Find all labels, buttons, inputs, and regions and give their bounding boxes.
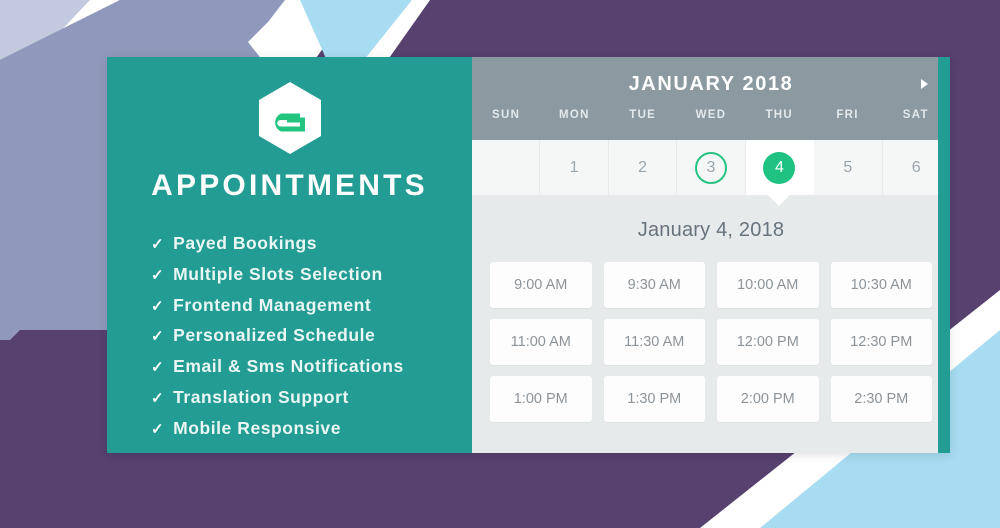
day-cell-2[interactable]: 2 xyxy=(609,140,677,195)
promo-panel: APPOINTMENTS ✓ Payed Bookings ✓ Multiple… xyxy=(107,57,472,453)
check-icon: ✓ xyxy=(151,292,164,322)
chevron-right-icon[interactable] xyxy=(921,79,928,89)
day-label: 6 xyxy=(900,152,932,184)
time-slots-area: January 4, 2018 9:00 AM 9:30 AM 10:00 AM… xyxy=(472,195,950,453)
check-icon: ✓ xyxy=(151,353,164,383)
day-cell-5[interactable]: 5 xyxy=(814,140,882,195)
time-slot-grid: 9:00 AM 9:30 AM 10:00 AM 10:30 AM 11:00 … xyxy=(490,262,932,422)
card-accent-strip xyxy=(938,57,950,453)
check-icon: ✓ xyxy=(151,261,164,291)
day-label xyxy=(490,152,522,184)
weekday-mon: MON xyxy=(540,109,608,121)
feature-label: Multiple Slots Selection xyxy=(173,260,383,290)
feature-label: Payed Bookings xyxy=(173,229,317,259)
weekday-tue: TUE xyxy=(609,109,677,121)
page-title: APPOINTMENTS xyxy=(151,169,428,203)
list-item: ✓ Payed Bookings xyxy=(151,229,472,260)
day-cell-empty xyxy=(472,140,540,195)
list-item: ✓ Frontend Management xyxy=(151,291,472,322)
list-item: ✓ Personalized Schedule xyxy=(151,321,472,352)
list-item: ✓ Multiple Slots Selection xyxy=(151,260,472,291)
weekday-row: SUN MON TUE WED THU FRI SAT xyxy=(472,96,950,121)
feature-label: Personalized Schedule xyxy=(173,321,375,351)
check-icon: ✓ xyxy=(151,384,164,414)
feature-label: Translation Support xyxy=(173,383,349,413)
time-slot[interactable]: 9:00 AM xyxy=(490,262,592,308)
time-slot[interactable]: 11:30 AM xyxy=(604,319,706,365)
selected-date-label: January 4, 2018 xyxy=(490,219,932,242)
feature-label: Mobile Responsive xyxy=(173,414,341,444)
day-label: 3 xyxy=(695,152,727,184)
calendar-header: JANUARY 2018 SUN MON TUE WED THU FRI SAT xyxy=(472,57,950,140)
weekday-sun: SUN xyxy=(472,109,540,121)
time-slot[interactable]: 1:00 PM xyxy=(490,376,592,422)
day-label: 5 xyxy=(832,152,864,184)
time-slot[interactable]: 11:00 AM xyxy=(490,319,592,365)
appointments-card: APPOINTMENTS ✓ Payed Bookings ✓ Multiple… xyxy=(107,57,950,453)
time-slot[interactable]: 2:30 PM xyxy=(831,376,933,422)
weekday-wed: WED xyxy=(677,109,745,121)
day-cell-1[interactable]: 1 xyxy=(540,140,608,195)
time-slot[interactable]: 12:30 PM xyxy=(831,319,933,365)
list-item: ✓ Email & Sms Notifications xyxy=(151,352,472,383)
time-slot[interactable]: 2:00 PM xyxy=(717,376,819,422)
list-item: ✓ Translation Support xyxy=(151,383,472,414)
day-label: 4 xyxy=(763,152,795,184)
weekday-thu: THU xyxy=(745,109,813,121)
day-label: 1 xyxy=(558,152,590,184)
time-slot[interactable]: 12:00 PM xyxy=(717,319,819,365)
check-icon: ✓ xyxy=(151,230,164,260)
time-slot[interactable]: 1:30 PM xyxy=(604,376,706,422)
calendar-panel: JANUARY 2018 SUN MON TUE WED THU FRI SAT… xyxy=(472,57,950,453)
hexagon-gravity-logo-icon xyxy=(257,81,323,155)
feature-list: ✓ Payed Bookings ✓ Multiple Slots Select… xyxy=(107,229,472,445)
time-slot[interactable]: 10:30 AM xyxy=(831,262,933,308)
feature-label: Email & Sms Notifications xyxy=(173,352,404,382)
day-number-row: 1 2 3 4 5 6 xyxy=(472,140,950,195)
weekday-fri: FRI xyxy=(813,109,881,121)
check-icon: ✓ xyxy=(151,415,164,445)
list-item: ✓ Mobile Responsive xyxy=(151,414,472,445)
day-cell-4-selected[interactable]: 4 xyxy=(746,140,814,195)
day-label: 2 xyxy=(627,152,659,184)
month-label: JANUARY 2018 xyxy=(472,57,950,96)
check-icon: ✓ xyxy=(151,322,164,352)
day-cell-3-today[interactable]: 3 xyxy=(677,140,745,195)
time-slot[interactable]: 10:00 AM xyxy=(717,262,819,308)
feature-label: Frontend Management xyxy=(173,291,371,321)
time-slot[interactable]: 9:30 AM xyxy=(604,262,706,308)
